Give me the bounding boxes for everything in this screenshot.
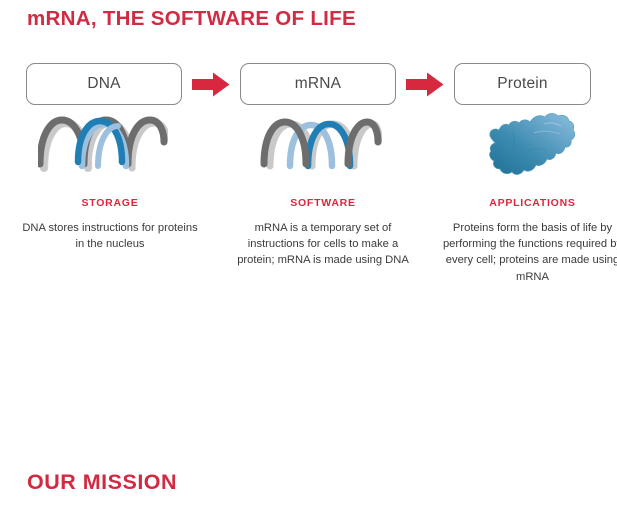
- column-storage-heading: STORAGE: [22, 197, 198, 209]
- mrna-single-strand-icon: [260, 118, 382, 175]
- column-software: SOFTWARE mRNA is a temporary set of inst…: [233, 197, 413, 269]
- arrow-mrna-to-protein-icon: [406, 72, 444, 97]
- column-applications: APPLICATIONS Proteins form the basis of …: [440, 197, 617, 285]
- protein-blob-icon: [482, 110, 578, 183]
- column-software-body: mRNA is a temporary set of instructions …: [233, 220, 413, 269]
- arrow-dna-to-mrna-icon: [192, 72, 230, 97]
- column-storage-body: DNA stores instructions for proteins in …: [22, 220, 198, 252]
- flow-box-dna-label: DNA: [87, 75, 120, 93]
- flow-box-dna[interactable]: DNA: [26, 63, 182, 105]
- flow-box-mrna-label: mRNA: [295, 75, 341, 93]
- flow-box-protein-label: Protein: [497, 75, 548, 93]
- flow-box-mrna[interactable]: mRNA: [240, 63, 396, 105]
- column-software-heading: SOFTWARE: [233, 197, 413, 209]
- column-applications-body: Proteins form the basis of life by perfo…: [440, 220, 617, 285]
- dna-double-helix-icon: [38, 116, 168, 177]
- page-title: mRNA, THE SOFTWARE OF LIFE: [27, 7, 356, 31]
- column-applications-heading: APPLICATIONS: [440, 197, 617, 209]
- flow-diagram: DNA mRNA Protein: [0, 63, 617, 107]
- flow-box-protein[interactable]: Protein: [454, 63, 591, 105]
- column-storage: STORAGE DNA stores instructions for prot…: [22, 197, 198, 252]
- mission-section-title: OUR MISSION: [27, 470, 177, 495]
